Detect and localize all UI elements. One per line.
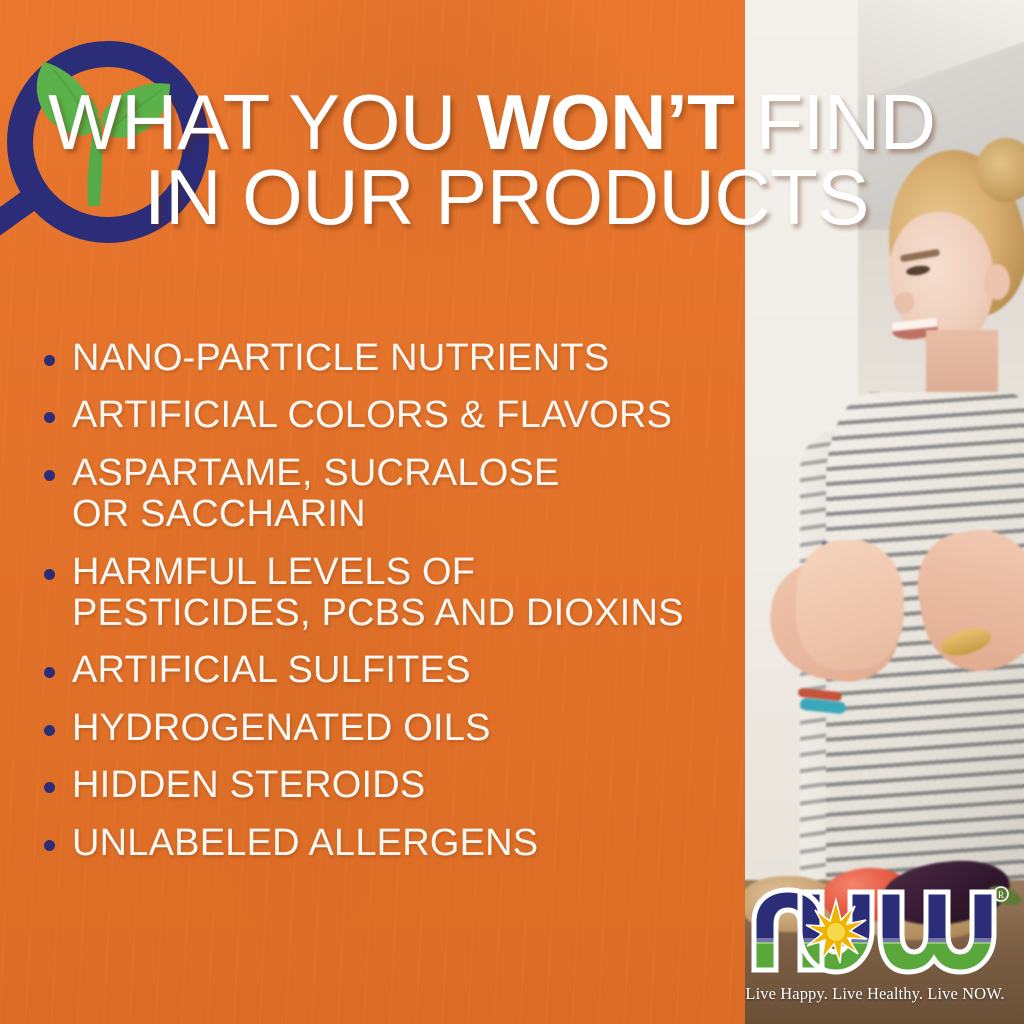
svg-text:R: R (998, 890, 1004, 900)
list-item: HARMFUL LEVELS OF PESTICIDES, PCBS AND D… (44, 552, 744, 635)
bullet-dot-icon (44, 667, 55, 678)
list-item: HIDDEN STEROIDS (44, 765, 744, 806)
bullet-dot-icon (44, 782, 55, 793)
list-item-label: HARMFUL LEVELS OF PESTICIDES, PCBS AND D… (72, 552, 684, 635)
list-item: HYDROGENATED OILS (44, 708, 744, 749)
bullet-dot-icon (44, 840, 55, 851)
promotional-poster: WHAT YOU WON’T FIND IN OUR PRODUCTS NANO… (0, 0, 1024, 1024)
page-title: WHAT YOU WON’T FIND IN OUR PRODUCTS (48, 88, 1008, 231)
list-item: UNLABELED ALLERGENS (44, 823, 744, 864)
list-item-label: ARTIFICIAL SULFITES (72, 650, 471, 691)
list-item-label: NANO-PARTICLE NUTRIENTS (72, 338, 609, 379)
logo-tagline: Live Happy. Live Healthy. Live NOW. (740, 984, 1010, 1004)
bullet-dot-icon (44, 569, 55, 580)
headline-line-1: WHAT YOU WON’T FIND (48, 88, 1008, 157)
list-item: ASPARTAME, SUCRALOSE OR SACCHARIN (44, 453, 744, 536)
bullet-dot-icon (44, 355, 55, 366)
list-item-label: ARTIFICIAL COLORS & FLAVORS (72, 395, 672, 436)
list-item: NANO-PARTICLE NUTRIENTS (44, 338, 744, 379)
list-item-label: UNLABELED ALLERGENS (72, 823, 538, 864)
now-foods-logo: R Live Happy. Live Healthy. Live NOW. (740, 886, 1010, 1004)
list-item: ARTIFICIAL SULFITES (44, 650, 744, 691)
headline-line-2: IN OUR PRODUCTS (48, 163, 1008, 232)
bullet-dot-icon (44, 725, 55, 736)
list-item: ARTIFICIAL COLORS & FLAVORS (44, 395, 744, 436)
list-item-label: HYDROGENATED OILS (72, 708, 491, 749)
now-wordmark-icon: R (740, 886, 1010, 978)
bullet-dot-icon (44, 470, 55, 481)
excluded-ingredients-list: NANO-PARTICLE NUTRIENTS ARTIFICIAL COLOR… (44, 338, 744, 880)
list-item-label: HIDDEN STEROIDS (72, 765, 425, 806)
bullet-dot-icon (44, 412, 55, 423)
list-item-label: ASPARTAME, SUCRALOSE OR SACCHARIN (72, 453, 560, 536)
